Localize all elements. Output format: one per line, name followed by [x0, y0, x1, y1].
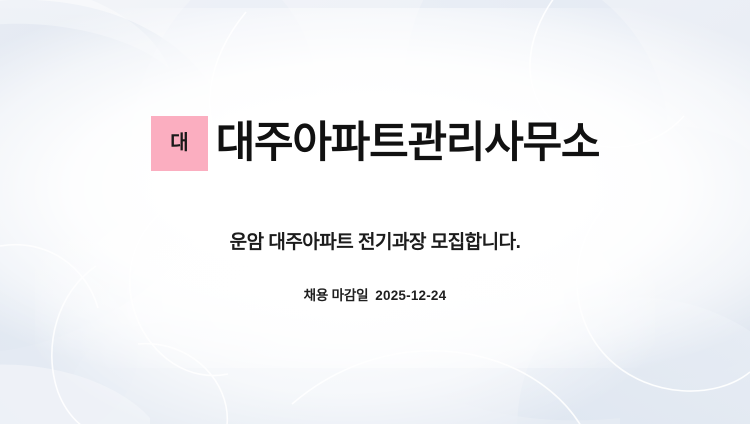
deadline-label: 채용 마감일 [304, 288, 369, 303]
job-posting-subtitle: 운암 대주아파트 전기과장 모집합니다. [230, 231, 521, 256]
deadline-date: 2025-12-24 [375, 288, 446, 303]
application-deadline: 채용 마감일2025-12-24 [304, 287, 447, 305]
organization-logo-badge: 대 [151, 116, 208, 171]
job-posting-banner: 대 대주아파트관리사무소 운암 대주아파트 전기과장 모집합니다. 채용 마감일… [0, 0, 750, 424]
logo-badge-label: 대 [170, 133, 188, 153]
banner-content: 대 대주아파트관리사무소 운암 대주아파트 전기과장 모집합니다. 채용 마감일… [0, 0, 750, 424]
organization-title: 대주아파트관리사무소 [216, 121, 600, 166]
title-row: 대 대주아파트관리사무소 [151, 92, 600, 195]
